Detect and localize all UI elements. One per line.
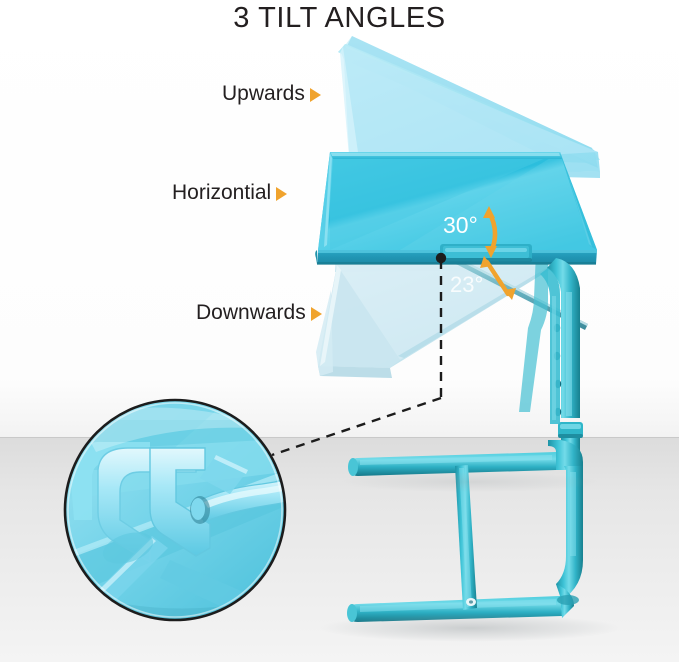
callout-downwards: Downwards — [196, 301, 322, 325]
triangle-right-icon — [276, 187, 287, 201]
tabletop-horizontal-position — [315, 152, 597, 265]
callout-horizontial-label: Horizontial — [172, 181, 271, 205]
page-title: 3 TILT ANGLES — [0, 2, 679, 35]
product-illustration — [0, 0, 679, 662]
callout-upwards-label: Upwards — [222, 82, 305, 106]
triangle-right-icon — [311, 307, 322, 321]
base-connector-screw — [466, 598, 476, 606]
upper-arm-shadow — [340, 472, 600, 492]
base-shadow — [320, 614, 620, 642]
callout-downwards-label: Downwards — [196, 301, 306, 325]
callout-upwards: Upwards — [222, 82, 321, 106]
callout-horizontial: Horizontial — [172, 181, 287, 205]
triangle-right-icon — [310, 88, 321, 102]
detail-anchor-dot — [436, 253, 446, 263]
height-adjust-collar — [558, 422, 583, 438]
infographic-canvas: 3 TILT ANGLES Upwards Horizontial Downwa… — [0, 0, 679, 662]
